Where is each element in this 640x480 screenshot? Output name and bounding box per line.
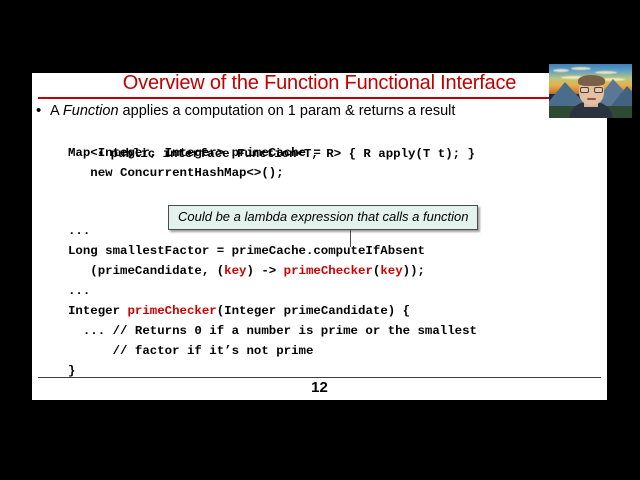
video-player-viewport: Overview of the Function Functional Inte…: [0, 0, 640, 480]
code-token-prime-checker-call: primeChecker: [284, 264, 373, 278]
code-method-return-type: Integer: [68, 304, 128, 318]
code-line-smallest-factor: Long smallestFactor = primeCache.compute…: [68, 244, 425, 258]
webcam-glasses-lens-left: [580, 87, 589, 93]
webcam-mountain-far-right: [611, 86, 632, 106]
title-underline-rule: [38, 97, 601, 99]
code-token-key-argument: key: [380, 264, 402, 278]
webcam-glasses-lens-right: [594, 87, 603, 93]
code-comment-line-1: ... // Returns 0 if a number is prime or…: [68, 324, 477, 338]
webcam-person-mouth: [587, 98, 596, 100]
code-block-prime-checker-method: Integer primeChecker(Integer primeCandid…: [68, 301, 477, 381]
presentation-slide: Overview of the Function Functional Inte…: [32, 73, 607, 400]
webcam-person-glasses-icon: [580, 87, 603, 93]
webcam-cloud-1: [553, 69, 569, 72]
bullet-item-primary: •A Function applies a computation on 1 p…: [36, 101, 606, 121]
callout-annotation-box: Could be a lambda expression that calls …: [168, 205, 478, 230]
slide-title: Overview of the Function Functional Inte…: [32, 73, 607, 95]
code-token-prime-checker-def: primeChecker: [128, 304, 217, 318]
code-block-map-declaration: Map<Integer, Integer> primeCache = new C…: [68, 143, 321, 183]
code-ellipsis-bottom: ...: [68, 284, 90, 298]
bullet-text-before: A: [50, 103, 63, 119]
code-line-lambda-post: ));: [403, 264, 425, 278]
code-closing-brace: }: [68, 364, 75, 378]
webcam-cloud-3: [595, 71, 617, 74]
code-ellipsis-top: ...: [68, 224, 90, 238]
code-comment-line-2: // factor if it’s not prime: [68, 344, 313, 358]
webcam-person-hair: [578, 75, 605, 86]
code-method-signature-rest: (Integer primeCandidate) {: [217, 304, 410, 318]
bullet-marker-icon: •: [36, 101, 50, 120]
code-line-lambda-pre: (primeCandidate, (: [68, 264, 224, 278]
bullet-italic-term: Function: [63, 103, 119, 119]
callout-leader-line: [350, 229, 351, 247]
bullet-text-after: applies a computation on 1 param & retur…: [119, 103, 456, 119]
slide-page-number: 12: [32, 379, 607, 396]
footer-divider-rule: [38, 377, 601, 378]
webcam-cloud-2: [571, 67, 591, 70]
presenter-webcam-overlay: [549, 64, 632, 118]
code-line-lambda-arrow: ) ->: [246, 264, 283, 278]
code-token-key-param: key: [224, 264, 246, 278]
code-block-compute-if-absent: ... Long smallestFactor = primeCache.com…: [68, 221, 425, 301]
